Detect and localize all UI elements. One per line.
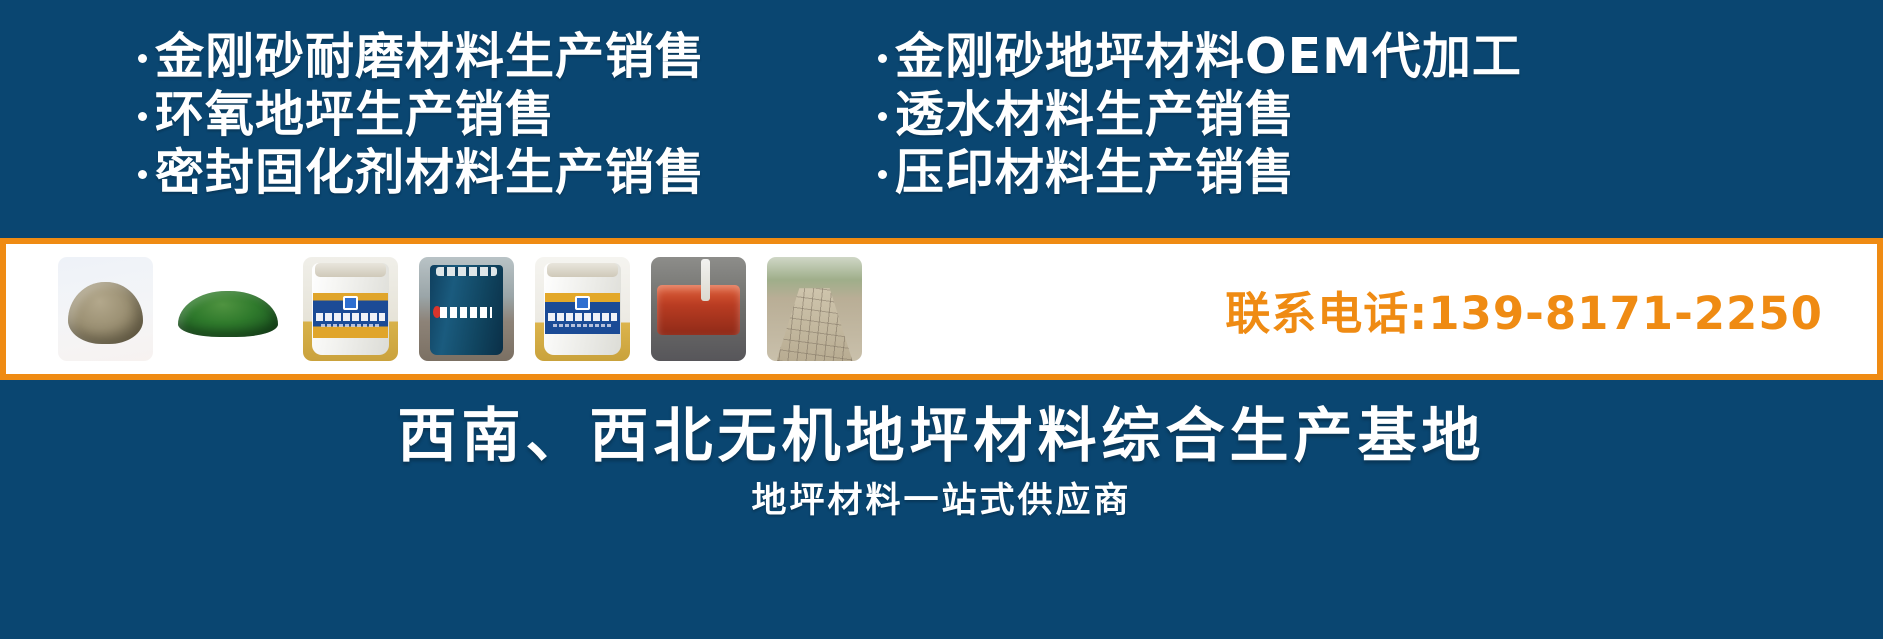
label-subtext-lines <box>553 324 612 328</box>
bucket-body <box>544 263 622 355</box>
service-item-label: 环氧地坪生产销售 <box>155 86 555 144</box>
brand-mark-icon <box>343 296 359 310</box>
bullet-dot-icon <box>878 112 887 121</box>
brand-mark-icon <box>575 296 591 310</box>
product-strip: 联系电话:139-8171-2250 <box>0 238 1883 380</box>
service-item: 金刚砂耐磨材料生产销售 <box>138 28 860 86</box>
product-thumb-abrasive-powder <box>58 257 153 361</box>
product-thumbnail-list <box>6 257 862 361</box>
product-thumb-stamped-paving <box>767 257 862 361</box>
bullet-dot-icon <box>878 170 887 179</box>
service-item-label: 金刚砂地坪材料OEM代加工 <box>895 28 1522 86</box>
bucket-rim <box>547 263 617 277</box>
drum-lid <box>436 267 497 276</box>
advertising-banner: 金刚砂耐磨材料生产销售 环氧地坪生产销售 密封固化剂材料生产销售 金刚砂地坪材料… <box>0 0 1883 639</box>
label-text-lines <box>316 313 385 321</box>
service-list-block: 金刚砂耐磨材料生产销售 环氧地坪生产销售 密封固化剂材料生产销售 金刚砂地坪材料… <box>0 28 1883 233</box>
service-column-left: 金刚砂耐磨材料生产销售 环氧地坪生产销售 密封固化剂材料生产销售 <box>0 28 860 233</box>
product-thumb-green-powder <box>174 257 282 361</box>
product-thumb-hongma-drum <box>419 257 514 361</box>
contact-phone[interactable]: 联系电话:139-8171-2250 <box>1225 277 1877 342</box>
service-item: 密封固化剂材料生产销售 <box>138 144 860 202</box>
service-column-right: 金刚砂地坪材料OEM代加工 透水材料生产销售 压印材料生产销售 <box>860 28 1883 233</box>
water-pour-stream <box>701 259 710 301</box>
drum-body <box>430 265 502 354</box>
service-item-label: 透水材料生产销售 <box>895 86 1295 144</box>
bucket-body <box>312 263 390 355</box>
product-thumb-permeable-aggregate <box>651 257 746 361</box>
service-item-label: 压印材料生产销售 <box>895 144 1295 202</box>
product-thumb-sealer-bucket <box>303 257 398 361</box>
bullet-dot-icon <box>138 54 147 63</box>
bucket-rim <box>315 263 385 277</box>
service-item: 透水材料生产销售 <box>878 86 1883 144</box>
bullet-dot-icon <box>138 170 147 179</box>
service-item-label: 金刚砂耐磨材料生产销售 <box>155 28 705 86</box>
page-title: 西南、西北无机地坪材料综合生产基地 <box>0 388 1883 473</box>
product-thumb-epoxy-bucket <box>535 257 630 361</box>
label-text-lines <box>548 313 617 321</box>
service-item: 环氧地坪生产销售 <box>138 86 860 144</box>
service-item: 压印材料生产销售 <box>878 144 1883 202</box>
label-subtext-lines <box>321 324 380 328</box>
service-item: 金刚砂地坪材料OEM代加工 <box>878 28 1883 86</box>
bullet-dot-icon <box>878 54 887 63</box>
service-item-label: 密封固化剂材料生产销售 <box>155 144 705 202</box>
drum-brand-text <box>440 307 492 318</box>
page-subtitle: 地坪材料一站式供应商 <box>0 472 1883 523</box>
bullet-dot-icon <box>138 112 147 121</box>
